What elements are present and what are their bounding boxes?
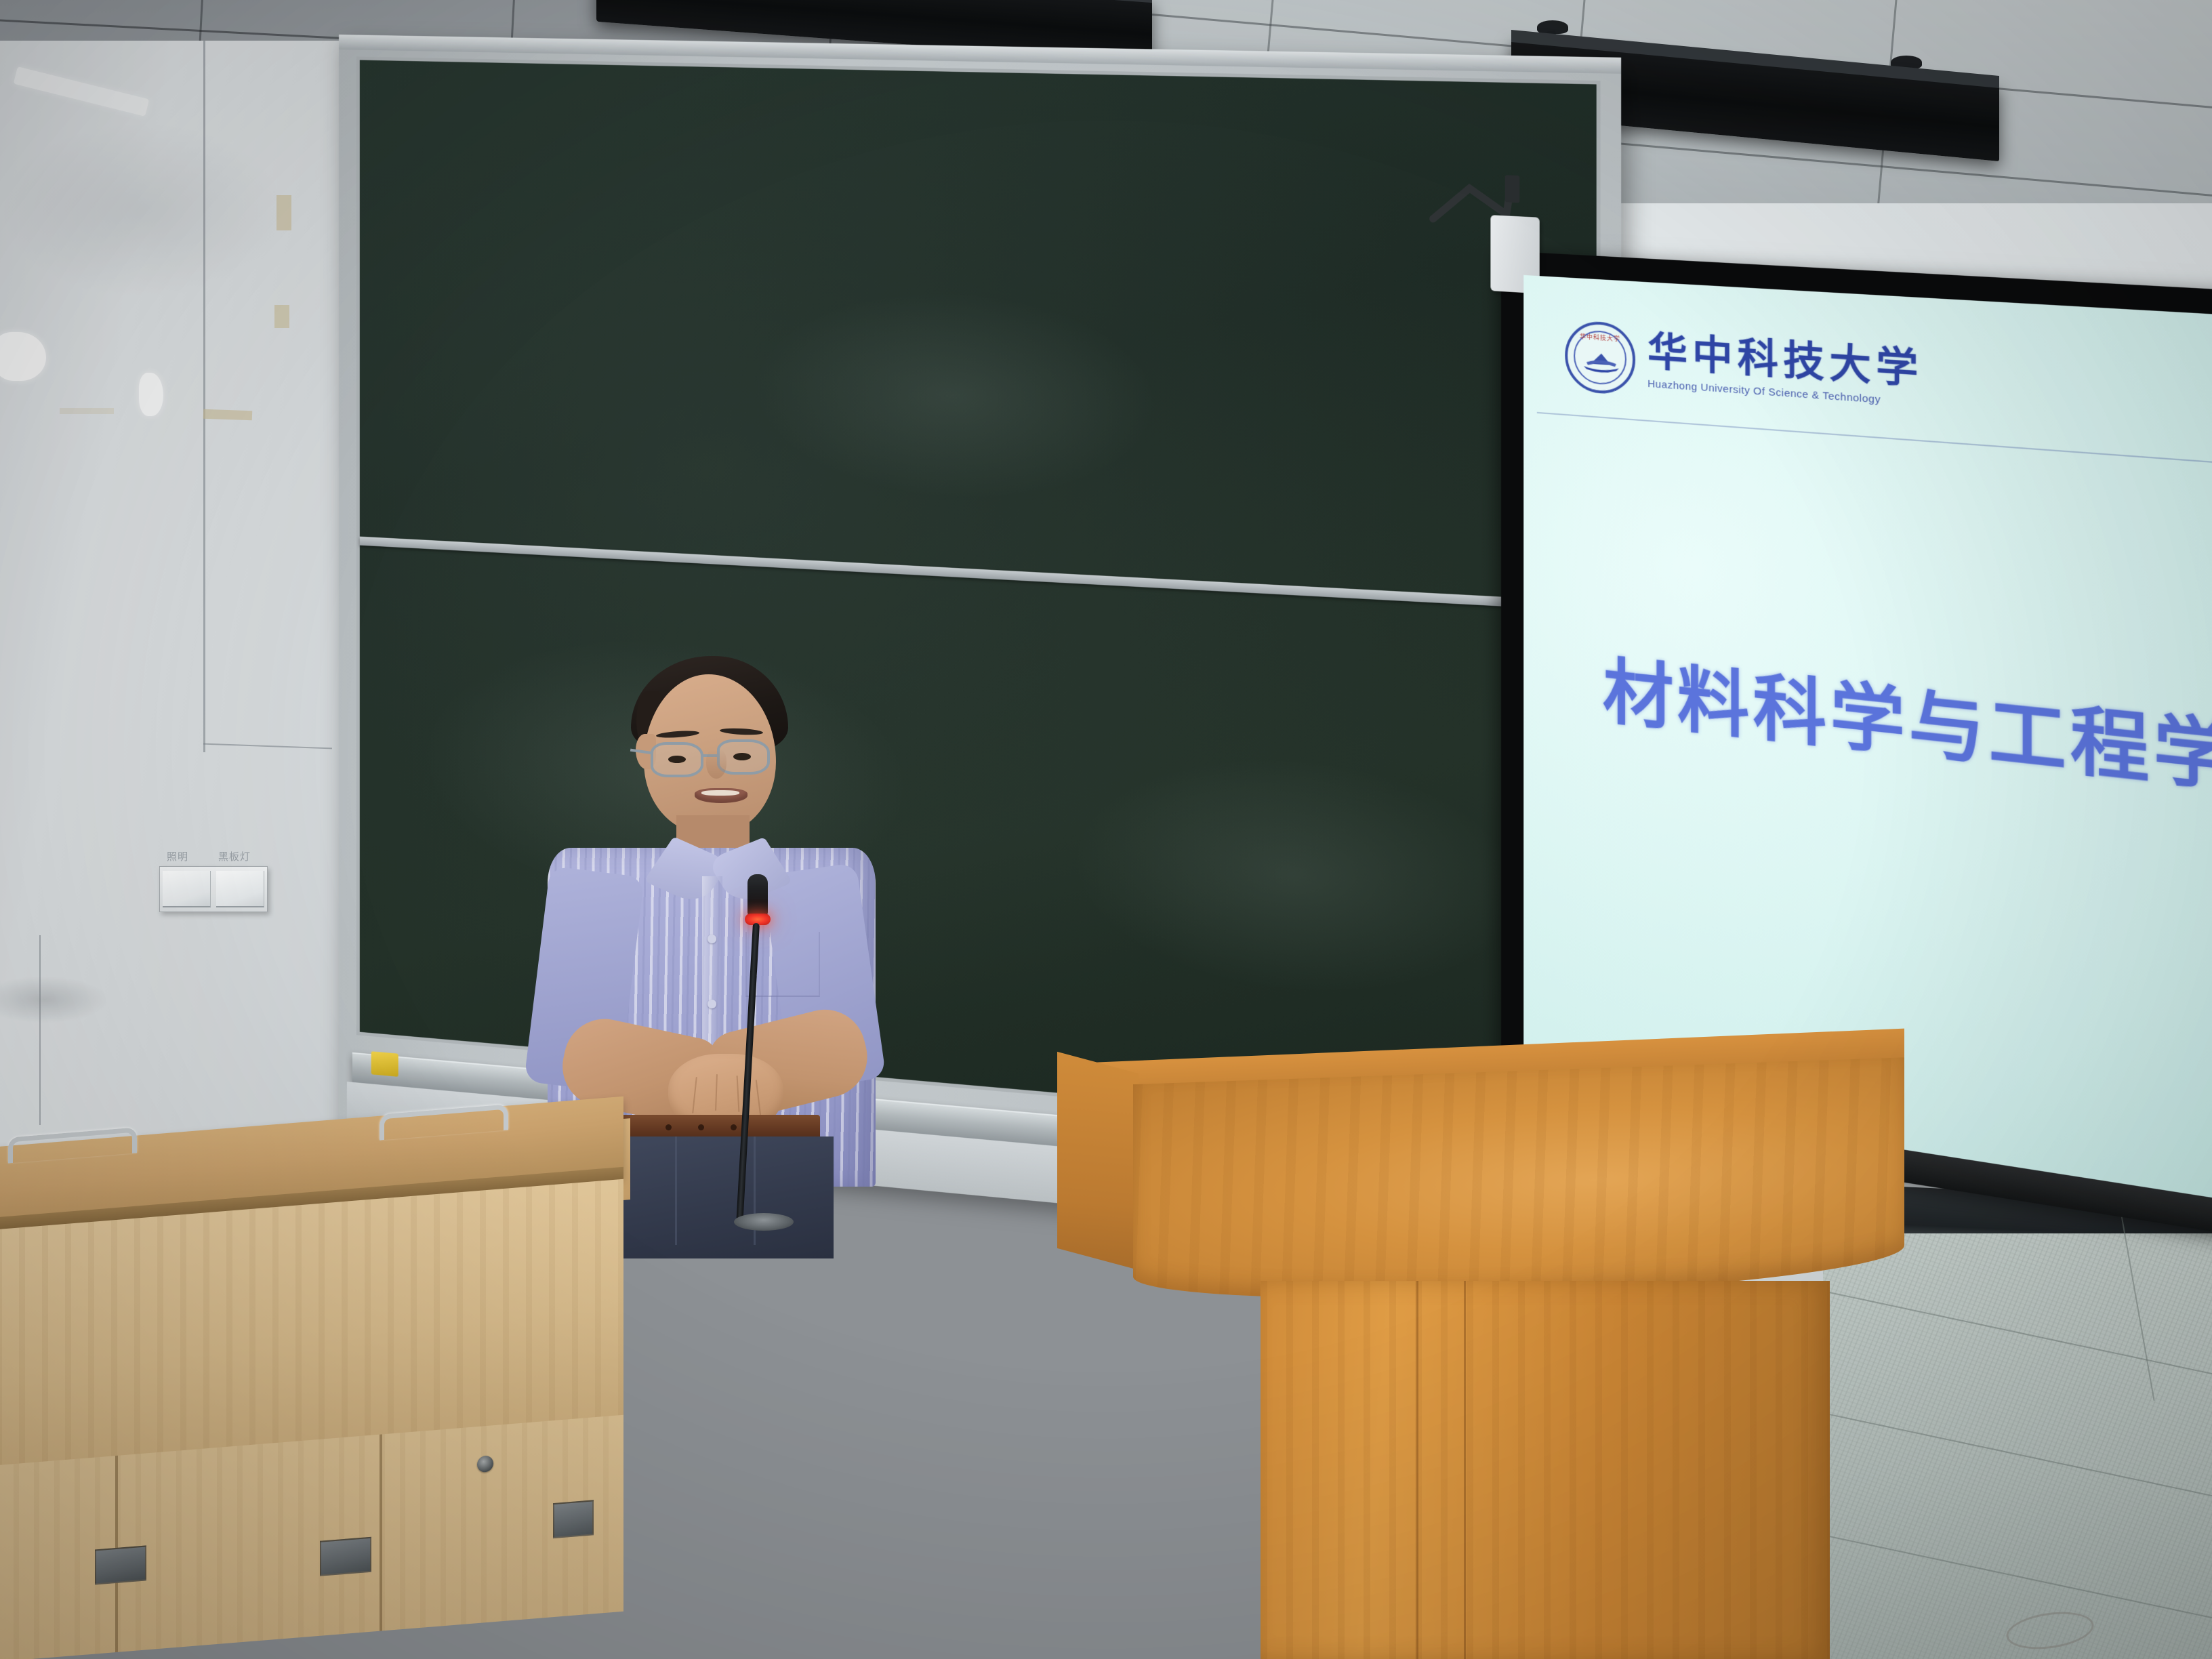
lecture-hall-photo: 照明 黑板灯 [0,0,2212,1659]
switch-label-1: 照明 [167,849,188,863]
cabinet-door-seam [380,1434,382,1631]
coiled-cable [2004,1607,2096,1654]
seal-arc-text: 华中科技大学 [1580,331,1620,343]
lectern-side-panel [1057,1052,1139,1270]
cabinet-keyhole-lock[interactable] [477,1455,493,1473]
switch-label-2: 黑板灯 [218,849,251,863]
gooseneck-microphone[interactable] [715,874,823,1254]
mouth [695,788,747,803]
wall-light-switches[interactable]: 照明 黑板灯 [159,866,268,912]
hust-seal-icon: 华中科技大学 [1565,320,1635,396]
lectern-front-panel [1133,1057,1904,1308]
microphone-capsule [747,874,768,916]
slide-title: 材料科学与工程学院 [1603,653,2212,812]
blackboard-divider-rail [360,536,1597,611]
cabinet-door-pull[interactable] [320,1537,371,1576]
teacher-desk-cabinet [0,1149,651,1659]
yellow-chalk-box[interactable] [371,1051,398,1077]
wall-left: 照明 黑板灯 [0,41,380,1233]
light-switch-1[interactable] [163,871,211,907]
cabinet-door-pull[interactable] [553,1500,594,1538]
slide-header-divider [1537,412,2212,470]
hust-logo-block: 华中科技大学 华中科技大学 Huazhong University Of Sci… [1565,320,1923,416]
microphone-base [734,1213,794,1231]
wooden-lectern [1057,1064,1904,1659]
nose [706,749,726,779]
seal-boat-glyph [1581,348,1622,374]
microphone-gooseneck [736,923,760,1221]
cabinet-door-pull[interactable] [95,1545,146,1584]
light-switch-2[interactable] [216,871,264,907]
eye-right [733,753,751,760]
lectern-pedestal [1261,1281,1830,1659]
blackboard-assembly [339,37,1525,1135]
eye-left [668,756,686,763]
